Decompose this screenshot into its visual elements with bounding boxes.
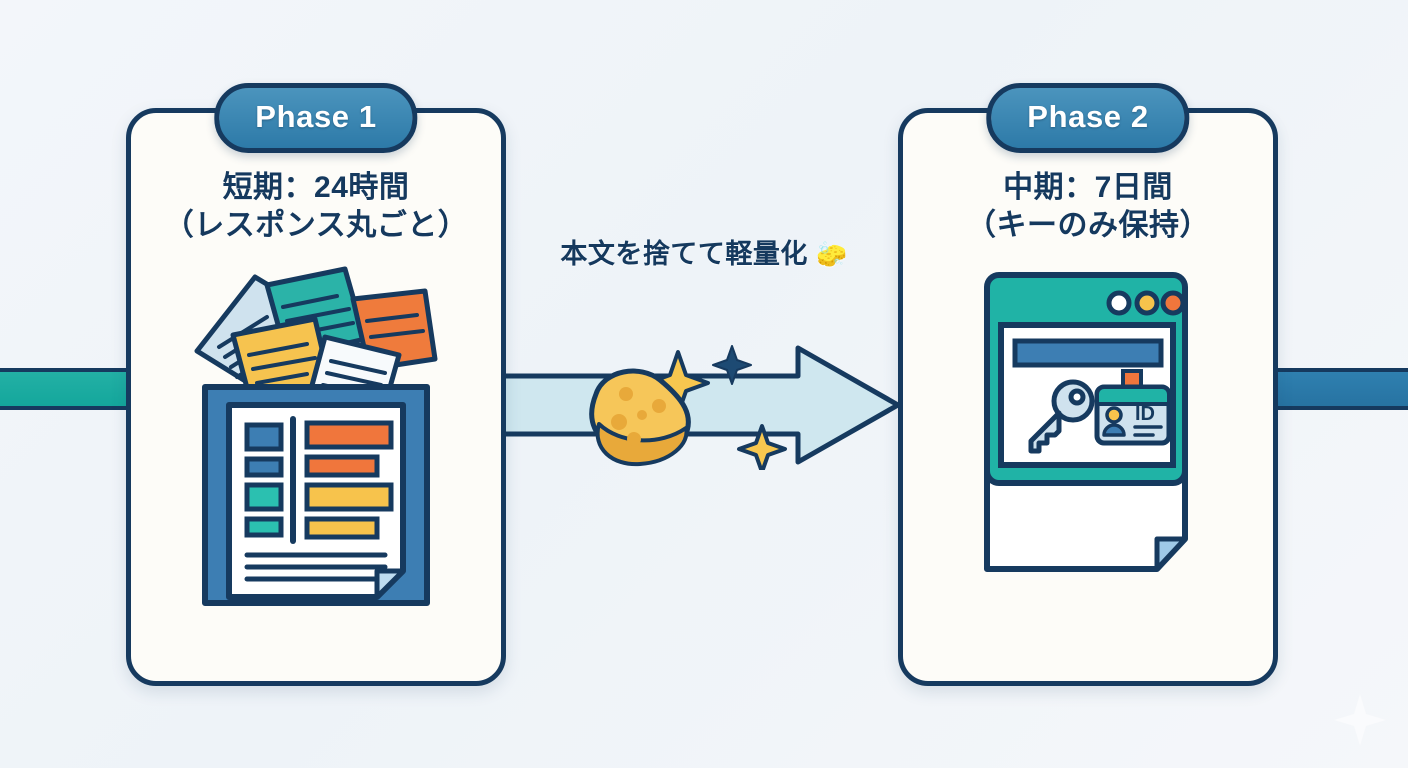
transition-caption: 本文を捨てて軽量化 🧽 <box>520 232 888 271</box>
overflowing-documents-icon <box>181 263 451 613</box>
window-dot-white <box>1109 293 1129 313</box>
phase-1-card[interactable]: Phase 1 短期：24時間 （レスポンス丸ごと） <box>126 108 506 686</box>
sparkle-watermark-icon <box>1330 690 1390 750</box>
window-dot-orange <box>1163 293 1183 313</box>
content-bar <box>1015 341 1161 365</box>
phase-1-badge: Phase 1 <box>214 83 417 153</box>
transition-arrow <box>500 340 906 470</box>
phase-2-title-line2: （キーのみ保持） <box>903 207 1273 245</box>
phase-2-card[interactable]: Phase 2 中期：7日間 （キーのみ保持） <box>898 108 1278 686</box>
sponge-emoji-icon: 🧽 <box>816 241 848 269</box>
phase-1-title: 短期：24時間 （レスポンス丸ごと） <box>131 169 501 246</box>
folded-corner <box>1157 539 1185 569</box>
phase-2-illustration: ID <box>903 263 1273 593</box>
phase-1-title-line1: 短期：24時間 <box>223 171 410 204</box>
phase-1-illustration <box>131 263 501 613</box>
phase-2-title: 中期：7日間 （キーのみ保持） <box>903 169 1273 246</box>
phase-2-title-line1: 中期：7日間 <box>1003 171 1173 204</box>
key-id-window-icon: ID <box>973 263 1203 593</box>
diagram-canvas: 本文を捨てて軽量化 🧽 Phase 1 短期：24時間 （レスポンス丸ごと） <box>0 0 1408 768</box>
svg-text:ID: ID <box>1135 403 1155 425</box>
phase-2-badge: Phase 2 <box>986 83 1189 153</box>
transition-caption-text: 本文を捨てて軽量化 <box>560 239 808 269</box>
window-dot-yellow <box>1137 293 1157 313</box>
arrow-graphic <box>500 340 906 470</box>
phase-1-title-line2: （レスポンス丸ごと） <box>131 207 501 245</box>
